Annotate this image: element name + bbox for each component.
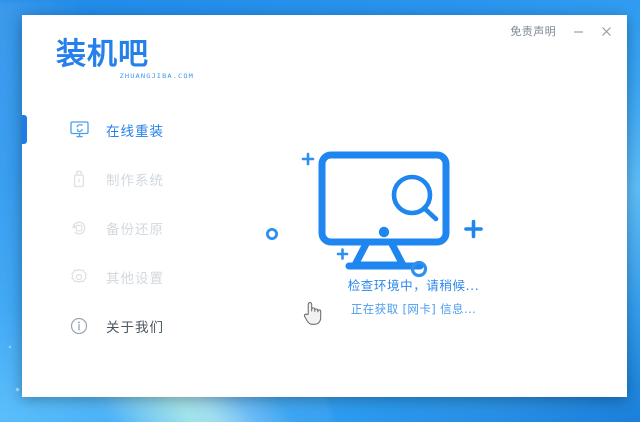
- logo-text-cn: 装机吧: [56, 39, 196, 71]
- decor-plus-icon: [303, 154, 313, 164]
- wallpaper-sparkle: [16, 388, 19, 391]
- app-window: 免责声明 装机吧 ZHUANGJIBA.COM: [22, 15, 627, 397]
- sidebar-item-online-reinstall[interactable]: 在线重装: [22, 105, 200, 154]
- decor-dot-icon: [267, 229, 276, 238]
- main-panel: 检查环境中，请稍候... 正在获取 [网卡] 信息...: [200, 47, 627, 397]
- sidebar-item-label: 在线重装: [106, 120, 164, 140]
- sidebar-item-about-us[interactable]: 关于我们: [22, 301, 200, 350]
- sidebar-item-label: 制作系统: [106, 169, 164, 189]
- backup-restore-icon: [69, 218, 89, 238]
- window-controls: 免责声明: [503, 20, 619, 42]
- gear-icon: [69, 267, 89, 287]
- sidebar-nav: 在线重装 制作系统 备份还原: [22, 101, 200, 350]
- decor-plus-icon: [466, 222, 481, 237]
- minimize-button[interactable]: [565, 21, 591, 42]
- monitor-reinstall-icon: [69, 120, 89, 140]
- status-message-group: 检查环境中，请稍候... 正在获取 [网卡] 信息...: [200, 275, 627, 317]
- close-icon: [600, 25, 613, 38]
- sidebar-item-label: 备份还原: [106, 218, 164, 238]
- monitor-stand-icon: [355, 244, 403, 265]
- close-button[interactable]: [593, 21, 619, 42]
- logo-text-en: ZHUANGJIBA.COM: [120, 72, 194, 79]
- status-primary-text: 检查环境中，请稍候...: [200, 275, 627, 294]
- decor-plus-icon: [338, 250, 347, 259]
- info-circle-icon: [69, 316, 89, 336]
- app-logo: 装机吧 ZHUANGJIBA.COM: [56, 39, 196, 85]
- minimize-icon: [572, 25, 585, 38]
- monitor-magnifier-illustration: [254, 143, 544, 288]
- active-indicator: [22, 115, 27, 144]
- usb-drive-icon: [69, 169, 89, 189]
- status-secondary-text: 正在获取 [网卡] 信息...: [200, 301, 627, 317]
- sidebar-item-label: 关于我们: [106, 316, 164, 336]
- magnifier-handle-icon: [424, 208, 436, 219]
- sidebar-item-create-system[interactable]: 制作系统: [22, 154, 200, 203]
- disclaimer-link[interactable]: 免责声明: [503, 20, 563, 42]
- sidebar-item-label: 其他设置: [106, 267, 164, 287]
- sidebar-item-other-settings[interactable]: 其他设置: [22, 252, 200, 301]
- wallpaper-sparkle: [9, 346, 11, 348]
- sidebar-item-backup-restore[interactable]: 备份还原: [22, 203, 200, 252]
- monitor-power-dot-icon: [379, 227, 389, 237]
